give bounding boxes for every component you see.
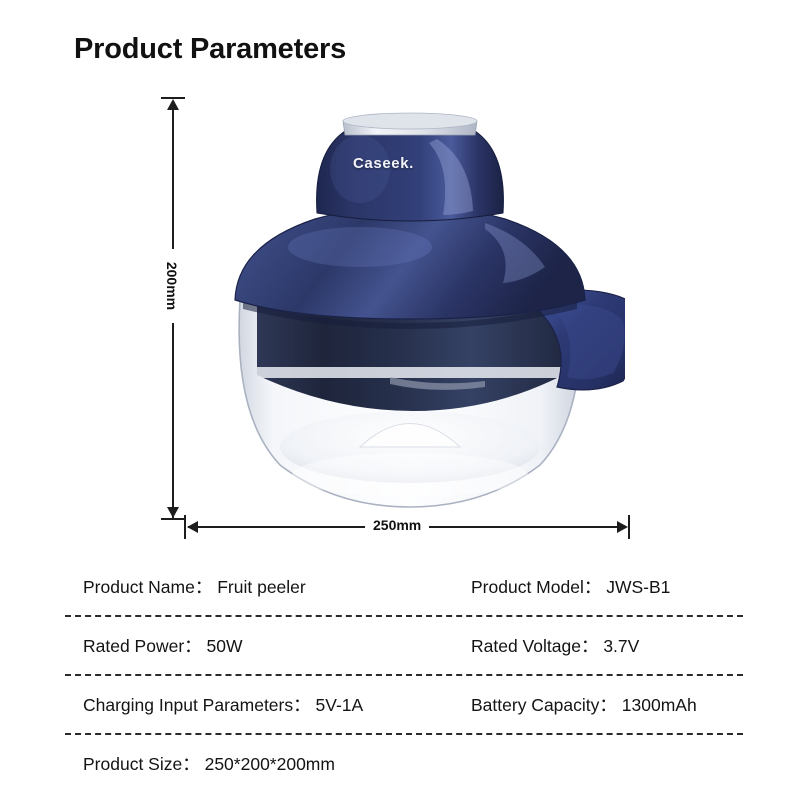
dimension-width: 250mm [180,505,650,545]
spec-value: 250*200*200mm [205,754,335,774]
dimension-height-arrow-bottom-icon [167,507,179,518]
table-row: Product Size： 250*200*200mm [65,735,743,792]
spec-value: Fruit peeler [217,577,306,597]
product-figure: 200mm [140,90,660,540]
spec-cell-charging-input: Charging Input Parameters： 5V-1A [65,692,468,717]
spec-value: 1300mAh [622,695,697,715]
specification-table: Product Name： Fruit peeler Product Model… [65,558,743,792]
brand-logo: Caseek. [353,155,414,172]
dimension-height-arrow-top-icon [167,99,179,110]
spec-value: 5V-1A [316,695,364,715]
product-image: Caseek. [185,95,625,515]
spec-cell-rated-voltage: Rated Voltage： 3.7V [468,633,639,658]
spec-label: Product Size： [83,754,200,774]
spec-cell-product-size: Product Size： 250*200*200mm [65,751,468,776]
spec-label: Charging Input Parameters： [83,695,311,715]
spec-label: Product Model： [471,577,601,597]
dimension-width-label: 250mm [365,517,429,533]
spec-label: Rated Voltage： [471,636,598,656]
spec-label: Battery Capacity： [471,695,617,715]
page-title: Product Parameters [74,33,346,66]
table-row: Rated Power： 50W Rated Voltage： 3.7V [65,617,743,674]
table-row: Charging Input Parameters： 5V-1A Battery… [65,676,743,733]
spec-value: 50W [207,636,243,656]
dimension-width-cap-right [628,515,630,539]
spec-cell-rated-power: Rated Power： 50W [65,633,468,658]
spec-cell-battery-capacity: Battery Capacity： 1300mAh [468,692,697,717]
dimension-width-arrow-left-icon [187,521,198,533]
spec-value: 3.7V [603,636,639,656]
spec-label: Rated Power： [83,636,202,656]
spec-cell-product-name: Product Name： Fruit peeler [65,574,468,599]
dimension-width-cap-left [184,515,186,539]
spec-label: Product Name： [83,577,212,597]
table-row: Product Name： Fruit peeler Product Model… [65,558,743,615]
dimension-width-arrow-right-icon [617,521,628,533]
spec-cell-product-model: Product Model： JWS-B1 [468,574,670,599]
spec-value: JWS-B1 [606,577,670,597]
dimension-height-label: 200mm [161,249,183,323]
